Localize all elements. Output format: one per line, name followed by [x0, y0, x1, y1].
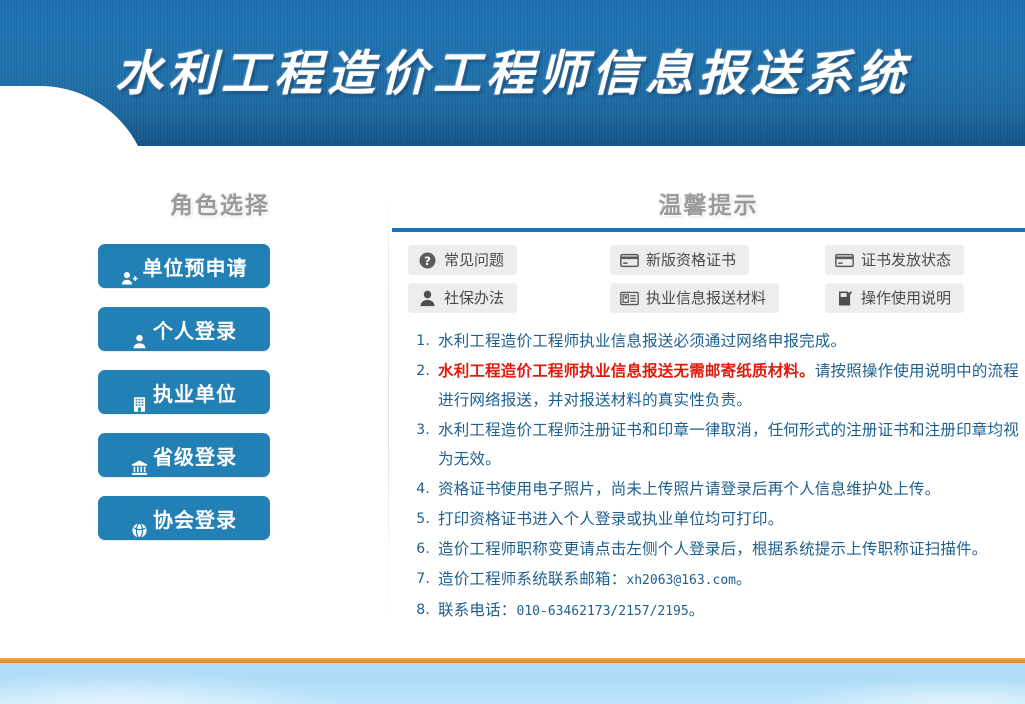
- role-button-individual-login[interactable]: 个人登录: [98, 307, 270, 351]
- credit-card-icon: [835, 251, 854, 270]
- notice-text: 造价工程师职称变更请点击左侧个人登录后，根据系统提示上传职称证扫描件。: [438, 540, 988, 558]
- notice-item-1: 水利工程造价工程师执业信息报送必须通过网络申报完成。: [438, 327, 1025, 356]
- role-selection-panel: 角色选择 单位预申请: [60, 186, 360, 559]
- page-title: 水利工程造价工程师信息报送系统: [0, 34, 1025, 104]
- user-icon: [131, 321, 148, 338]
- notice-text: 打印资格证书进入个人登录或执业单位均可打印。: [438, 510, 783, 528]
- notice-panel-heading: 温馨提示: [392, 186, 1025, 220]
- user-plus-icon: [121, 258, 138, 275]
- notice-panel: 温馨提示 ? 常见问题: [392, 186, 1025, 627]
- quicklink-user-manual[interactable]: 操作使用说明: [825, 283, 964, 313]
- list-item: 执业单位: [98, 370, 270, 414]
- page-root: 水利工程造价工程师信息报送系统 角色选择: [0, 0, 1025, 704]
- notice-item-7: 造价工程师系统联系邮箱：xh2063@163.com。: [438, 565, 1025, 595]
- quicklink-label: 社保办法: [444, 291, 504, 306]
- notice-item-8: 联系电话：010-63462173/2157/2195。: [438, 596, 1025, 626]
- role-button-label: 单位预申请: [143, 246, 248, 290]
- notice-item-6: 造价工程师职称变更请点击左侧个人登录后，根据系统提示上传职称证扫描件。: [438, 535, 1025, 564]
- notice-text: 。: [736, 570, 752, 588]
- notice-item-list: 水利工程造价工程师执业信息报送必须通过网络申报完成。 水利工程造价工程师执业信息…: [392, 327, 1025, 626]
- id-card-icon: [620, 289, 639, 308]
- quicklink-new-certificate[interactable]: 新版资格证书: [610, 245, 749, 275]
- quicklink-label: 操作使用说明: [861, 291, 951, 306]
- footer: [0, 658, 1025, 704]
- contact-phone: 010-63462173/2157/2195: [517, 604, 689, 619]
- notice-text-highlight: 水利工程造价工程师执业信息报送无需邮寄纸质材料。: [438, 362, 815, 380]
- notice-text: 造价工程师系统联系邮箱：: [438, 570, 626, 588]
- notice-item-5: 打印资格证书进入个人登录或执业单位均可打印。: [438, 505, 1025, 534]
- footer-sky-band: [0, 663, 1025, 704]
- notice-text: 联系电话：: [438, 601, 517, 619]
- role-button-label: 协会登录: [153, 498, 237, 542]
- bank-icon: [131, 447, 148, 464]
- quicklink-label: 新版资格证书: [646, 253, 736, 268]
- notice-text: 。: [689, 601, 705, 619]
- role-button-label: 执业单位: [153, 372, 237, 416]
- header-banner: 水利工程造价工程师信息报送系统: [0, 0, 1025, 146]
- quicklink-submission-materials[interactable]: 执业信息报送材料: [610, 283, 779, 313]
- quicklink-label: 执业信息报送材料: [646, 291, 766, 306]
- role-button-list: 单位预申请 个人登录: [98, 244, 270, 540]
- notice-item-4: 资格证书使用电子照片，尚未上传照片请登录后再个人信息维护处上传。: [438, 475, 1025, 504]
- user-icon: [418, 289, 437, 308]
- quicklink-certificate-status[interactable]: 证书发放状态: [825, 245, 964, 275]
- contact-email: xh2063@163.com: [626, 573, 736, 588]
- notice-item-2: 水利工程造价工程师执业信息报送无需邮寄纸质材料。请按照操作使用说明中的流程进行网…: [438, 357, 1025, 415]
- list-item: 单位预申请: [98, 244, 270, 288]
- role-button-unit-pre-application[interactable]: 单位预申请: [98, 244, 270, 288]
- globe-icon: [131, 510, 148, 527]
- notice-text: 水利工程造价工程师执业信息报送必须通过网络申报完成。: [438, 332, 846, 350]
- building-icon: [131, 384, 148, 401]
- role-button-association-login[interactable]: 协会登录: [98, 496, 270, 540]
- notice-text: 水利工程造价工程师注册证书和印章一律取消，任何形式的注册证书和注册印章均视为无效…: [438, 421, 1019, 468]
- book-icon: [835, 289, 854, 308]
- list-item: 协会登录: [98, 496, 270, 540]
- role-button-practice-unit[interactable]: 执业单位: [98, 370, 270, 414]
- column-divider: [388, 198, 389, 628]
- notice-heading-rule: [392, 228, 1025, 232]
- role-button-label: 个人登录: [153, 309, 237, 353]
- svg-text:?: ?: [424, 253, 431, 267]
- list-item: 省级登录: [98, 433, 270, 477]
- list-item: 个人登录: [98, 307, 270, 351]
- quicklink-faq[interactable]: ? 常见问题: [408, 245, 517, 275]
- quicklink-label: 常见问题: [444, 253, 504, 268]
- quicklink-label: 证书发放状态: [861, 253, 951, 268]
- role-button-province-login[interactable]: 省级登录: [98, 433, 270, 477]
- role-button-label: 省级登录: [153, 435, 237, 479]
- notice-text: 资格证书使用电子照片，尚未上传照片请登录后再个人信息维护处上传。: [438, 480, 940, 498]
- quicklink-grid: ? 常见问题 新版资格证书: [392, 239, 1025, 317]
- notice-item-3: 水利工程造价工程师注册证书和印章一律取消，任何形式的注册证书和注册印章均视为无效…: [438, 416, 1025, 474]
- question-circle-icon: ?: [418, 251, 437, 270]
- main-content: 角色选择 单位预申请: [0, 146, 1025, 658]
- credit-card-icon: [620, 251, 639, 270]
- quicklink-social-security[interactable]: 社保办法: [408, 283, 517, 313]
